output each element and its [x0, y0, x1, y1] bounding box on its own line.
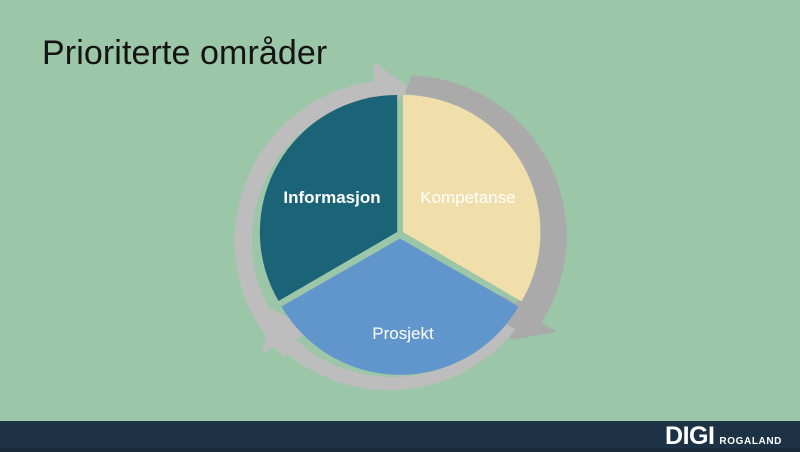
brand-primary-text: DIGI: [665, 424, 714, 449]
segment-label-informasjon: Informasjon: [283, 188, 380, 207]
footer-bar: DIGI ROGALAND: [0, 421, 800, 452]
presentation-slide: Prioriterte områder Informasjon Kompetan…: [0, 0, 800, 452]
cycle-diagram: Informasjon Kompetanse Prosjekt: [0, 0, 800, 452]
brand-secondary-text: ROGALAND: [719, 437, 782, 447]
segment-label-prosjekt: Prosjekt: [372, 324, 434, 343]
brand-logo: DIGI ROGALAND: [665, 424, 782, 449]
segment-label-kompetanse: Kompetanse: [420, 188, 515, 207]
